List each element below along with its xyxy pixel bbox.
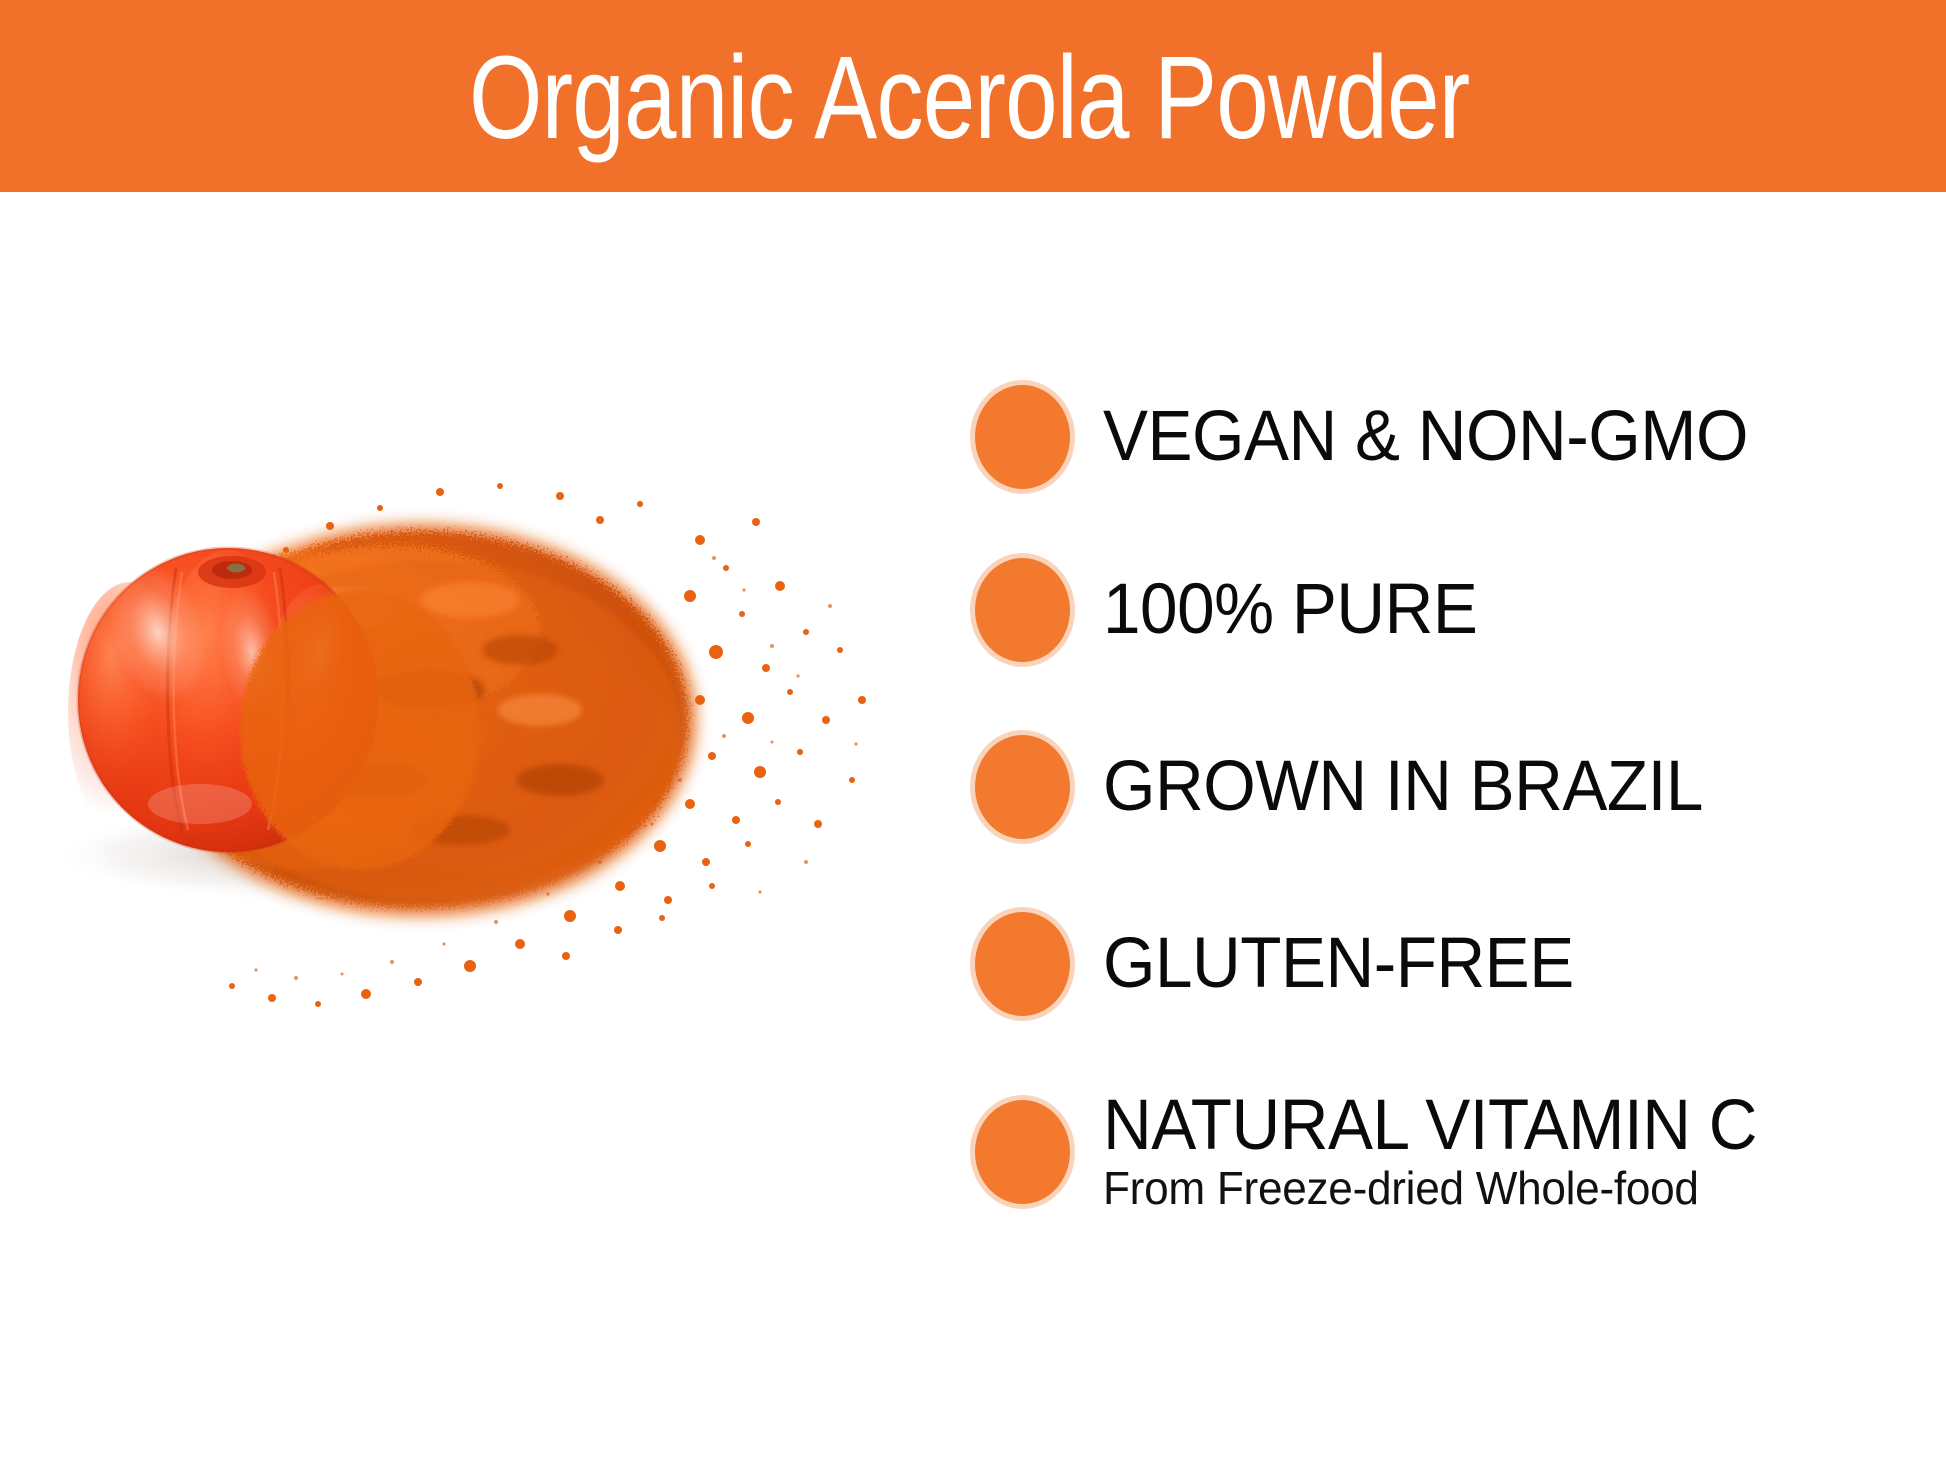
product-infographic: Organic Acerola Powder: [0, 0, 1946, 1460]
feature-item-100-percent-pure: 100% PURE: [975, 558, 1905, 662]
feature-list: VEGAN & NON-GMO 100% PURE GROWN IN BRAZI…: [975, 300, 1905, 1420]
header-banner: Organic Acerola Powder: [0, 0, 1946, 192]
bullet-dot-icon: [975, 912, 1070, 1016]
bullet-dot-icon: [975, 1100, 1070, 1204]
feature-text-wrap: GLUTEN-FREE: [1103, 928, 1599, 1000]
feature-text-wrap: VEGAN & NON-GMO: [1103, 401, 1782, 473]
acerola-fruit-and-powder-illustration: [0, 400, 960, 1160]
feature-label: GROWN IN BRAZIL: [1103, 751, 1703, 823]
bullet-dot-icon: [975, 735, 1070, 839]
feature-text-wrap: GROWN IN BRAZIL: [1103, 751, 1735, 823]
feature-text-wrap: 100% PURE: [1103, 574, 1497, 646]
feature-item-natural-vitamin-c: NATURAL VITAMIN C From Freeze-dried Whol…: [975, 1090, 1905, 1214]
feature-item-vegan-non-gmo: VEGAN & NON-GMO: [975, 385, 1905, 489]
feature-label: VEGAN & NON-GMO: [1103, 401, 1748, 473]
page-title: Organic Acerola Powder: [469, 39, 1469, 157]
product-photo: [0, 400, 960, 1160]
feature-label: GLUTEN-FREE: [1103, 928, 1574, 1000]
feature-item-gluten-free: GLUTEN-FREE: [975, 912, 1905, 1016]
feature-subtitle: From Freeze-dried Whole-food: [1103, 1164, 1764, 1214]
feature-item-grown-in-brazil: GROWN IN BRAZIL: [975, 735, 1905, 839]
feature-text-wrap: NATURAL VITAMIN C From Freeze-dried Whol…: [1103, 1090, 1791, 1214]
bullet-dot-icon: [975, 558, 1070, 662]
bullet-dot-icon: [975, 385, 1070, 489]
feature-label: NATURAL VITAMIN C: [1103, 1090, 1757, 1162]
feature-label: 100% PURE: [1103, 574, 1477, 646]
